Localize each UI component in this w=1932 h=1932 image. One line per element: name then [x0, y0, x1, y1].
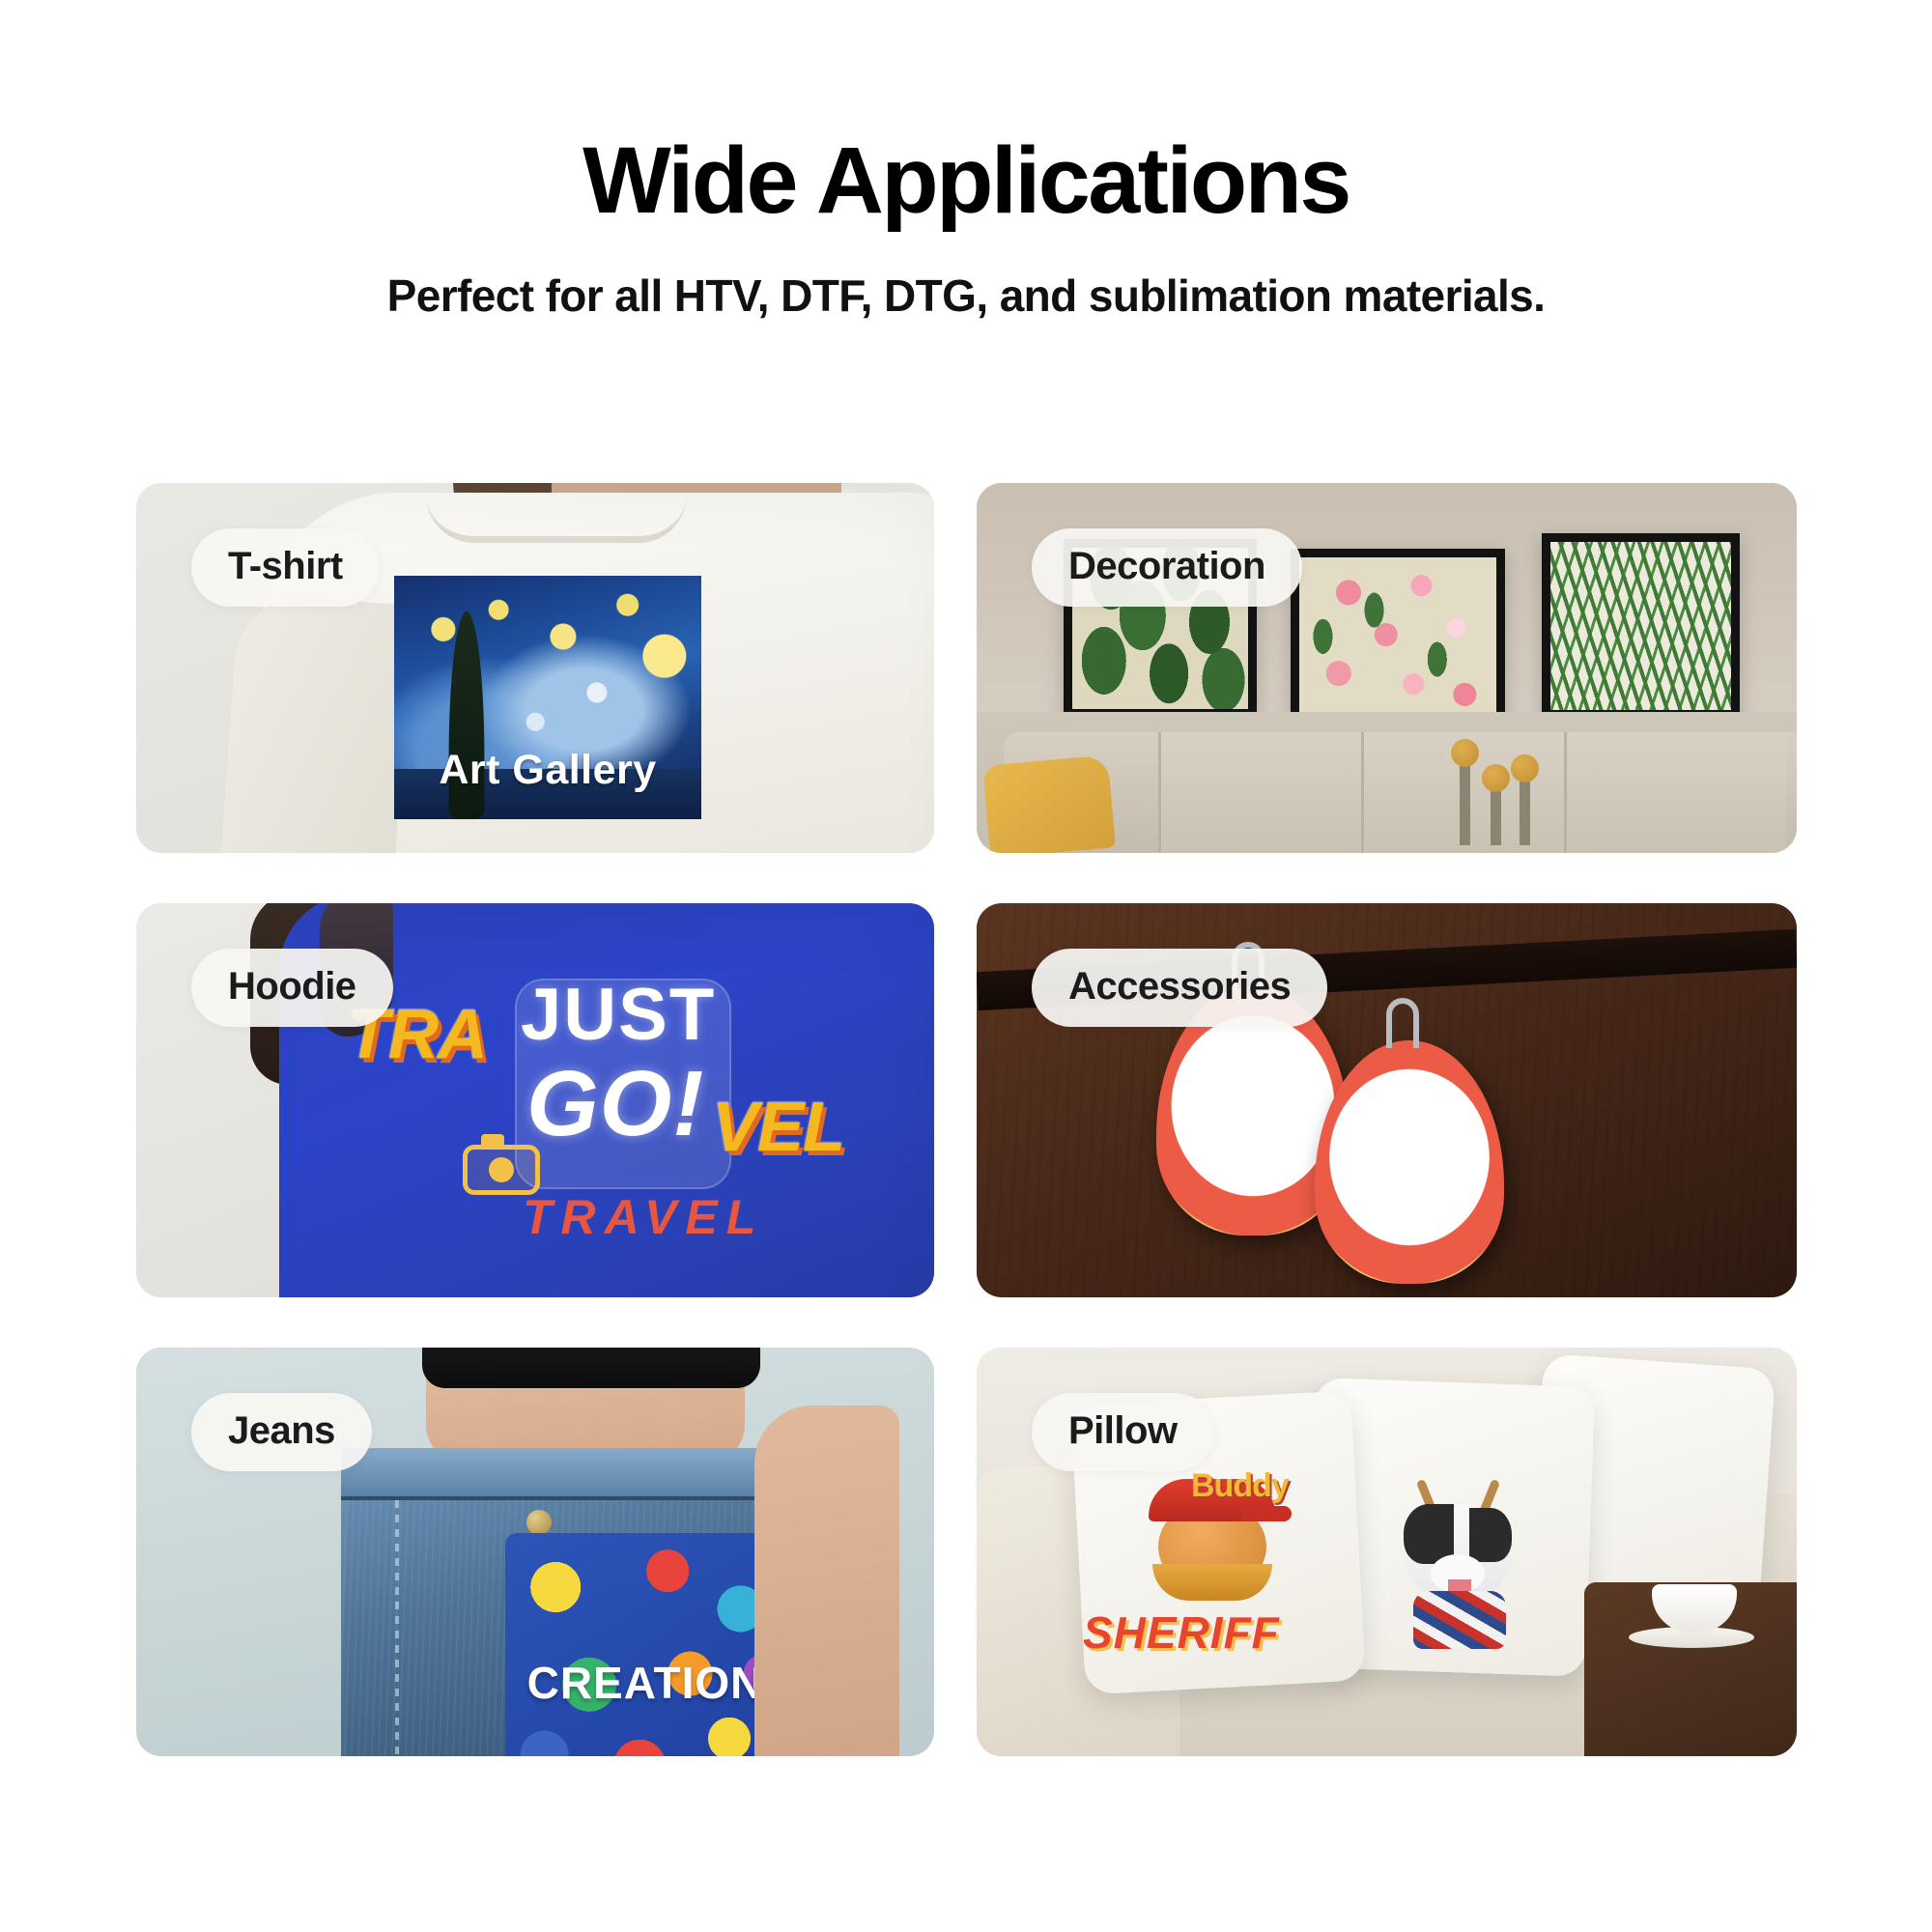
dried-flower — [1520, 776, 1530, 845]
dried-flower — [1460, 760, 1470, 845]
dog-patch — [1469, 1508, 1512, 1562]
page-header: Wide Applications Perfect for all HTV, D… — [0, 0, 1932, 322]
framed-art-3 — [1542, 533, 1740, 719]
tshirt-sleeve — [217, 593, 413, 853]
starry-night-print: Art Gallery — [394, 576, 701, 819]
dried-flower — [1491, 785, 1501, 845]
fern-pattern — [1550, 542, 1731, 710]
graphic-script-line1: JUST — [521, 979, 716, 1052]
cat-badge-text: Buddy — [1191, 1467, 1289, 1505]
denim-button — [526, 1510, 552, 1535]
dog-graphic — [1380, 1483, 1535, 1628]
sofa-cushion — [1564, 732, 1786, 853]
card-label-tshirt: T-shirt — [191, 528, 380, 607]
application-card-accessories[interactable]: Accessories — [977, 903, 1797, 1297]
page-title: Wide Applications — [0, 133, 1932, 229]
application-card-jeans[interactable]: CREATION Jeans — [136, 1348, 934, 1756]
wide-applications-page: Wide Applications Perfect for all HTV, D… — [0, 0, 1932, 1932]
sheriff-title: SHERIFF — [1083, 1606, 1280, 1659]
sofa — [977, 712, 1797, 853]
application-card-pillow[interactable]: Buddy SHERIFF — [977, 1348, 1797, 1756]
yellow-cushion — [982, 755, 1116, 853]
graphic-word-right: VEL — [712, 1093, 844, 1162]
earring-hook — [1386, 998, 1419, 1048]
card-label-decoration: Decoration — [1032, 528, 1302, 607]
earring-right — [1315, 1040, 1504, 1284]
tshirt-collar — [426, 495, 687, 543]
burger-bun — [1152, 1564, 1272, 1601]
grid-cell-hoodie: TRA JUST GO! VEL TRAVEL Hoodie — [136, 903, 977, 1348]
denim-seam — [395, 1500, 399, 1756]
grid-cell-pillow: Buddy SHERIFF — [977, 1348, 1797, 1806]
black-crop-top — [422, 1348, 760, 1388]
grid-cell-tshirt: Art Gallery T-shirt — [136, 483, 977, 903]
grid-cell-accessories: Accessories — [977, 903, 1797, 1348]
card-label-hoodie: Hoodie — [191, 949, 393, 1027]
page-subtitle: Perfect for all HTV, DTF, DTG, and subli… — [0, 270, 1932, 322]
card-label-accessories: Accessories — [1032, 949, 1327, 1027]
graphic-script-bottom: TRAVEL — [523, 1193, 764, 1241]
applications-grid: Art Gallery T-shirt — [136, 483, 1797, 1806]
arm-shape — [754, 1406, 899, 1756]
card-label-pillow: Pillow — [1032, 1393, 1214, 1471]
application-card-hoodie[interactable]: TRA JUST GO! VEL TRAVEL Hoodie — [136, 903, 934, 1297]
application-card-decoration[interactable]: Decoration — [977, 483, 1797, 853]
print-caption: Art Gallery — [394, 747, 701, 794]
grid-cell-jeans: CREATION Jeans — [136, 1348, 977, 1806]
print-caption: CREATION — [505, 1657, 785, 1709]
graphic-script-line2: GO! — [526, 1058, 704, 1151]
colorful-floral-print: CREATION — [505, 1533, 785, 1756]
sofa-back — [1004, 732, 1797, 853]
grid-cell-decoration: Decoration — [977, 483, 1797, 903]
card-label-jeans: Jeans — [191, 1393, 372, 1471]
floral-pattern — [1299, 557, 1496, 733]
cat-sheriff-graphic: Buddy — [1141, 1471, 1286, 1597]
sofa-cushion — [1158, 732, 1361, 853]
application-card-tshirt[interactable]: Art Gallery T-shirt — [136, 483, 934, 853]
dog-sweater — [1413, 1591, 1506, 1649]
camera-icon — [463, 1145, 540, 1195]
